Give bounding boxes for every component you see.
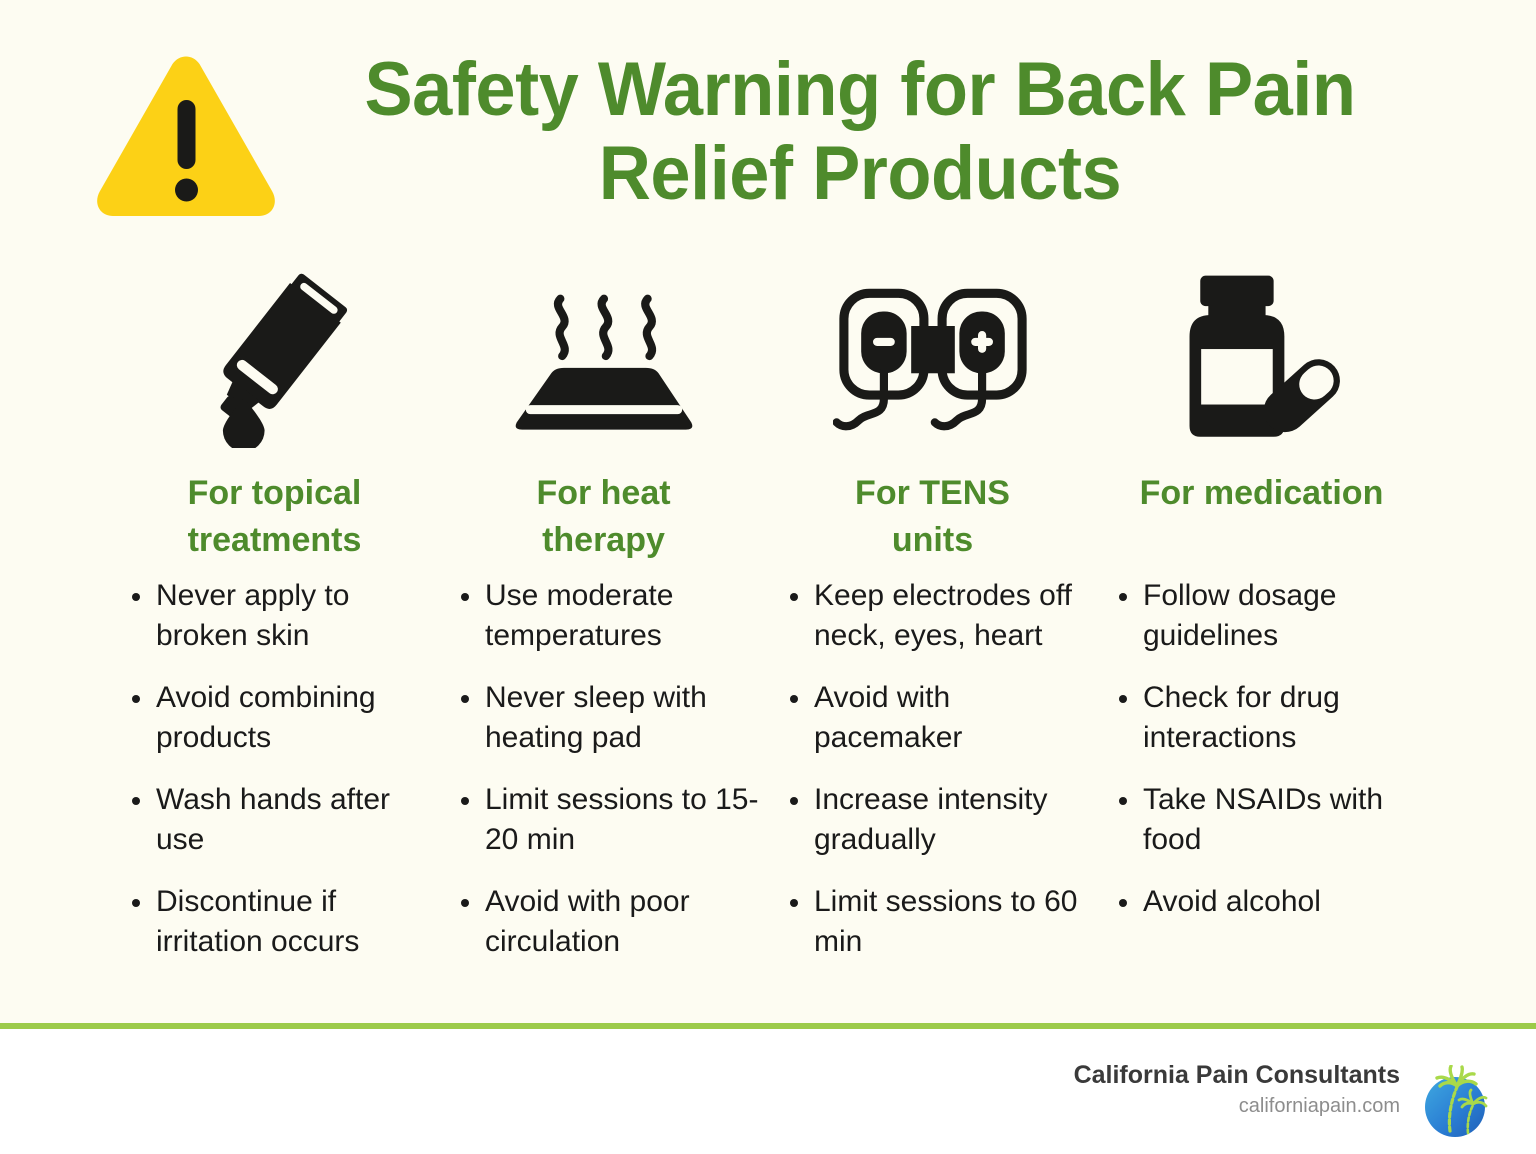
list-item: Avoid with poor circulation — [457, 882, 768, 962]
infographic-poster: Safety Warning for Back Pain Relief Prod… — [0, 0, 1536, 1154]
bullet-list: Keep electrodes off neck, eyes, heart Av… — [768, 576, 1097, 984]
warning-triangle-icon — [92, 52, 280, 220]
bullet-list: Follow dosage guidelines Check for drug … — [1097, 576, 1426, 944]
column-heat-therapy: For heat therapy Use moderate temperatur… — [439, 248, 768, 988]
list-item: Avoid alcohol — [1115, 882, 1426, 922]
list-item: Wash hands after use — [128, 780, 439, 860]
brand-name: California Pain Consultants — [1074, 1059, 1400, 1091]
list-item: Use moderate temperatures — [457, 576, 768, 656]
poster-footer: California Pain Consultants californiapa… — [0, 1029, 1536, 1154]
poster-header: Safety Warning for Back Pain Relief Prod… — [0, 0, 1536, 232]
pill-bottle-icon — [1177, 248, 1347, 448]
list-item: Take NSAIDs with food — [1115, 780, 1426, 860]
page-title: Safety Warning for Back Pain Relief Prod… — [255, 48, 1465, 216]
column-topical-treatments: For topical treatments Never apply to br… — [110, 248, 439, 988]
list-item: Avoid combining products — [128, 678, 439, 758]
list-item: Limit sessions to 60 min — [786, 882, 1097, 962]
column-heading: For topical treatments — [188, 470, 362, 564]
column-heading: For heat therapy — [536, 470, 670, 564]
list-item: Check for drug interactions — [1115, 678, 1426, 758]
list-item: Never apply to broken skin — [128, 576, 439, 656]
list-item: Avoid with pacemaker — [786, 678, 1097, 758]
list-item: Limit sessions to 15-20 min — [457, 780, 768, 860]
list-item: Discontinue if irritation occurs — [128, 882, 439, 962]
list-item: Keep electrodes off neck, eyes, heart — [786, 576, 1097, 656]
list-item: Increase intensity gradually — [786, 780, 1097, 860]
advice-columns: For topical treatments Never apply to br… — [0, 248, 1536, 988]
tens-electrodes-icon — [833, 248, 1033, 448]
title-line-1: Safety Warning for Back Pain — [285, 48, 1435, 132]
brand-block: California Pain Consultants californiapa… — [1074, 1059, 1400, 1121]
column-heading: For medication — [1140, 470, 1384, 564]
palm-tree-globe-logo — [1418, 1065, 1496, 1143]
list-item: Never sleep with heating pad — [457, 678, 768, 758]
column-heading: For TENS units — [855, 470, 1010, 564]
ointment-tube-icon — [185, 248, 365, 448]
brand-website: californiapain.com — [1074, 1091, 1400, 1121]
heating-pad-icon — [504, 248, 704, 448]
column-tens-units: For TENS units Keep electrodes off neck,… — [768, 248, 1097, 988]
title-line-2: Relief Products — [285, 132, 1435, 216]
column-medication: For medication Follow dosage guidelines … — [1097, 248, 1426, 988]
bullet-list: Never apply to broken skin Avoid combini… — [110, 576, 439, 984]
list-item: Follow dosage guidelines — [1115, 576, 1426, 656]
bullet-list: Use moderate temperatures Never sleep wi… — [439, 576, 768, 984]
